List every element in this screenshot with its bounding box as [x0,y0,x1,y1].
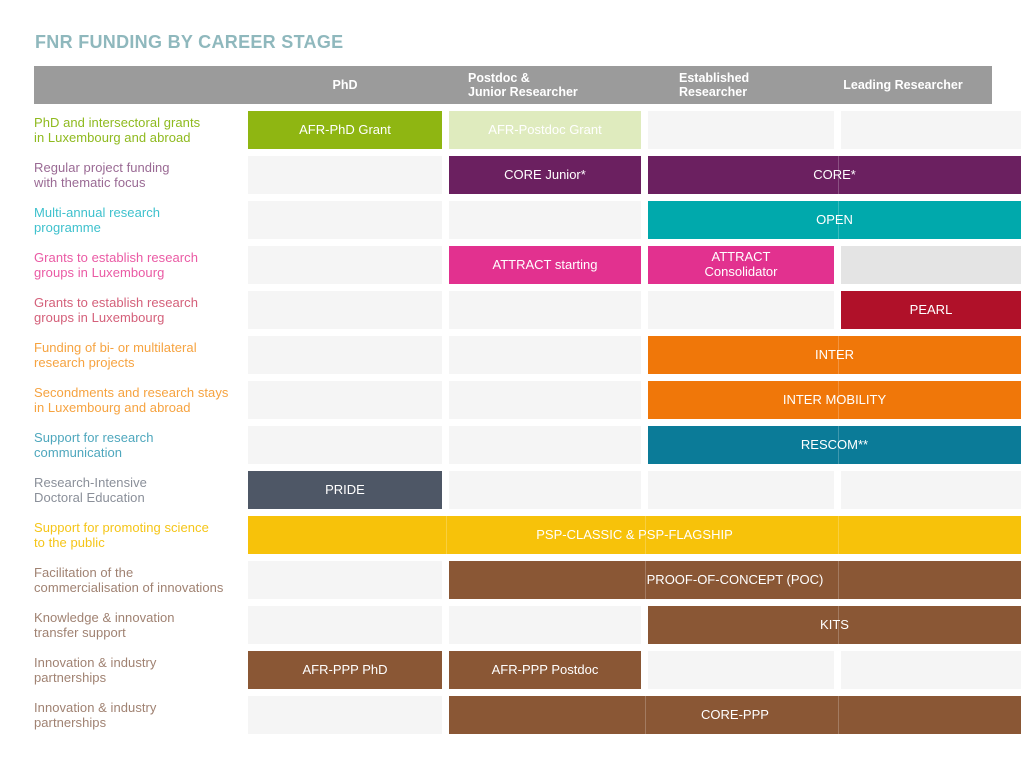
empty-cell [648,651,834,689]
funding-bar-label: INTER [815,348,854,363]
table-row: Grants to establish research groups in L… [34,291,992,329]
funding-bar[interactable]: INTER [648,336,1021,374]
funding-grid: PhD and intersectoral grants in Luxembou… [34,111,992,734]
row-cells: PEARL [248,291,1021,329]
empty-cell [841,246,1021,284]
row-cells: AFR-PPP PhDAFR-PPP Postdoc [248,651,1021,689]
empty-cell [248,336,442,374]
empty-cell [449,201,641,239]
row-cells: PROOF-OF-CONCEPT (POC) [248,561,1021,599]
empty-cell [449,336,641,374]
row-label: Grants to establish research groups in L… [34,291,248,329]
empty-cell [248,201,442,239]
row-cells: PRIDE [248,471,1021,509]
funding-bar-label: RESCOM** [801,438,868,453]
row-label: Support for research communication [34,426,248,464]
funding-bar[interactable]: KITS [648,606,1021,644]
empty-cell [449,471,641,509]
funding-bar-label: KITS [820,618,849,633]
empty-cell [248,156,442,194]
row-label: Support for promoting science to the pub… [34,516,248,554]
funding-bar[interactable]: CORE-PPP [449,696,1021,734]
funding-bar[interactable]: PSP-CLASSIC & PSP-FLAGSHIP [248,516,1021,554]
empty-cell [248,696,442,734]
table-row: Grants to establish research groups in L… [34,246,992,284]
funding-bar-label: INTER MOBILITY [783,393,886,408]
row-cells: PSP-CLASSIC & PSP-FLAGSHIP [248,516,1021,554]
empty-cell [648,291,834,329]
funding-bar-label: AFR-PPP Postdoc [492,663,599,678]
column-header-phd: PhD [248,66,442,104]
header-label-spacer [34,66,248,104]
empty-cell [248,606,442,644]
row-cells: AFR-PhD GrantAFR-Postdoc Grant [248,111,1021,149]
funding-chart-page: FNR FUNDING BY CAREER STAGE PhD Postdoc … [0,0,1024,768]
table-row: Innovation & industry partnershipsCORE-P… [34,696,992,734]
funding-bar[interactable]: INTER MOBILITY [648,381,1021,419]
funding-bar[interactable]: ATTRACT starting [449,246,641,284]
empty-cell [248,246,442,284]
funding-bar-label: AFR-PPP PhD [302,663,387,678]
row-cells: INTER MOBILITY [248,381,1021,419]
funding-bar[interactable]: AFR-Postdoc Grant [449,111,641,149]
column-header-leading-researcher: Leading Researcher [820,66,992,104]
table-row: Research-Intensive Doctoral EducationPRI… [34,471,992,509]
column-header-established-researcher: Established Researcher [634,66,820,104]
empty-cell [841,471,1021,509]
empty-cell [449,606,641,644]
empty-cell [841,651,1021,689]
row-cells: KITS [248,606,1021,644]
empty-cell [248,561,442,599]
column-header-postdoc-junior-researcher: Postdoc & Junior Researcher [442,66,634,104]
funding-bar-label: ATTRACT Consolidator [705,250,778,280]
empty-cell [449,426,641,464]
table-row: Support for research communicationRESCOM… [34,426,992,464]
funding-bar[interactable]: AFR-PPP Postdoc [449,651,641,689]
column-header-row: PhD Postdoc & Junior Researcher Establis… [34,66,992,104]
table-row: Support for promoting science to the pub… [34,516,992,554]
empty-cell [648,471,834,509]
table-row: Facilitation of the commercialisation of… [34,561,992,599]
row-label: Innovation & industry partnerships [34,651,248,689]
funding-bar[interactable]: RESCOM** [648,426,1021,464]
table-row: Multi-annual research programmeOPEN [34,201,992,239]
funding-bar[interactable]: AFR-PhD Grant [248,111,442,149]
funding-bar[interactable]: PRIDE [248,471,442,509]
funding-bar[interactable]: PEARL [841,291,1021,329]
row-label: Innovation & industry partnerships [34,696,248,734]
row-cells: INTER [248,336,1021,374]
funding-bar-label: CORE* [813,168,856,183]
row-label: PhD and intersectoral grants in Luxembou… [34,111,248,149]
funding-bar-label: AFR-PhD Grant [299,123,391,138]
empty-cell [449,381,641,419]
funding-bar[interactable]: OPEN [648,201,1021,239]
row-label: Multi-annual research programme [34,201,248,239]
row-label: Regular project funding with thematic fo… [34,156,248,194]
funding-bar-label: OPEN [816,213,853,228]
page-title: FNR FUNDING BY CAREER STAGE [35,32,992,53]
row-cells: RESCOM** [248,426,1021,464]
table-row: PhD and intersectoral grants in Luxembou… [34,111,992,149]
funding-bar[interactable]: PROOF-OF-CONCEPT (POC) [449,561,1021,599]
funding-bar-label: PSP-CLASSIC & PSP-FLAGSHIP [536,528,733,543]
table-row: Regular project funding with thematic fo… [34,156,992,194]
table-row: Secondments and research stays in Luxemb… [34,381,992,419]
funding-bar[interactable]: AFR-PPP PhD [248,651,442,689]
funding-bar-label: PROOF-OF-CONCEPT (POC) [647,573,824,588]
row-label: Secondments and research stays in Luxemb… [34,381,248,419]
row-label: Funding of bi- or multilateral research … [34,336,248,374]
funding-bar-label: ATTRACT starting [493,258,598,273]
row-label: Research-Intensive Doctoral Education [34,471,248,509]
funding-bar-label: CORE-PPP [701,708,769,723]
row-label: Grants to establish research groups in L… [34,246,248,284]
funding-bar-label: PEARL [910,303,953,318]
empty-cell [248,381,442,419]
table-row: Innovation & industry partnershipsAFR-PP… [34,651,992,689]
funding-bar-label: CORE Junior* [504,168,586,183]
table-row: Funding of bi- or multilateral research … [34,336,992,374]
row-label: Facilitation of the commercialisation of… [34,561,248,599]
empty-cell [248,426,442,464]
funding-bar-label: PRIDE [325,483,365,498]
table-row: Knowledge & innovation transfer supportK… [34,606,992,644]
empty-cell [248,291,442,329]
row-cells: OPEN [248,201,1021,239]
empty-cell [449,291,641,329]
empty-cell [841,111,1021,149]
row-cells: CORE Junior*CORE* [248,156,1021,194]
funding-bar[interactable]: CORE Junior* [449,156,641,194]
row-cells: ATTRACT startingATTRACT Consolidator [248,246,1021,284]
funding-bar[interactable]: ATTRACT Consolidator [648,246,834,284]
row-label: Knowledge & innovation transfer support [34,606,248,644]
funding-bar[interactable]: CORE* [648,156,1021,194]
funding-bar-label: AFR-Postdoc Grant [488,123,601,138]
empty-cell [648,111,834,149]
row-cells: CORE-PPP [248,696,1021,734]
